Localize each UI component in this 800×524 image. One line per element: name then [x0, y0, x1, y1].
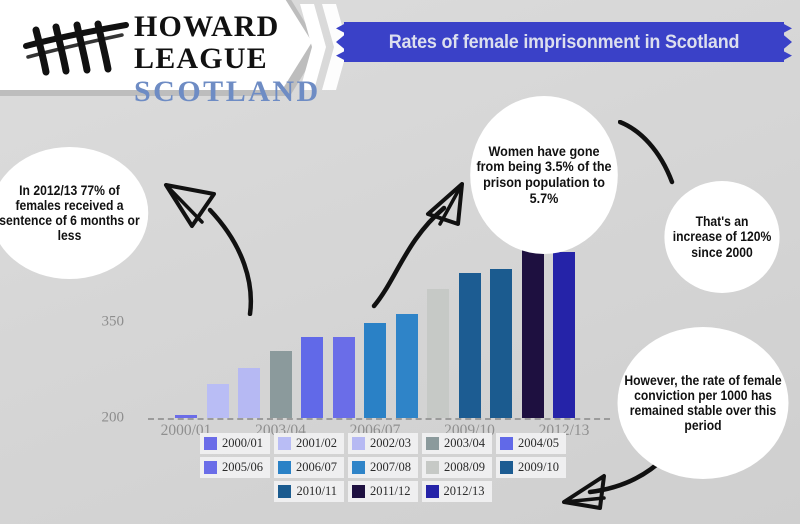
bar-2008-09: [427, 289, 449, 418]
y-axis-tick-200: 200: [102, 410, 125, 427]
legend-item-2005-06[interactable]: 2005/06: [200, 457, 270, 478]
legend-label: 2005/06: [222, 460, 263, 475]
legend-label: 2009/10: [518, 460, 559, 475]
legend-item-2000-01[interactable]: 2000/01: [200, 433, 270, 454]
legend-item-2001-02[interactable]: 2001/02: [274, 433, 344, 454]
callout-sentence-length: In 2012/13 77% of females received a sen…: [0, 147, 148, 279]
callout-percentage-increase: That's an increase of 120% since 2000: [664, 181, 779, 293]
bar-2002-03: [238, 368, 260, 418]
legend-item-2009-10[interactable]: 2009/10: [496, 457, 566, 478]
legend-label: 2006/07: [296, 460, 337, 475]
legend-row: 2005/062006/072007/082008/092009/10: [200, 457, 566, 478]
legend-swatch-icon: [500, 461, 513, 474]
legend-row: 2000/012001/022002/032003/042004/05: [200, 433, 566, 454]
bar-2006-07: [364, 323, 386, 418]
legend-row: 2010/112011/122012/13: [274, 481, 491, 502]
legend-label: 2002/03: [370, 436, 411, 451]
legend-label: 2010/11: [296, 484, 337, 499]
logo-wordmark: HOWARD LEAGUE SCOTLAND: [134, 8, 321, 107]
bar-2007-08: [396, 314, 418, 418]
legend-swatch-icon: [278, 461, 291, 474]
bar-2005-06: [333, 337, 355, 418]
legend-swatch-icon: [426, 485, 439, 498]
legend-label: 2012/13: [444, 484, 485, 499]
bar-2010-11: [490, 269, 512, 418]
callout-sentence-length-text: In 2012/13 77% of females received a sen…: [0, 183, 148, 243]
arrow-to-recent-bars-icon: [618, 120, 698, 195]
legend-item-2002-03[interactable]: 2002/03: [348, 433, 418, 454]
legend-swatch-icon: [352, 485, 365, 498]
logo-line-1: HOWARD: [134, 12, 321, 42]
title-ribbon: Rates of female imprisonment in Scotland: [344, 22, 784, 64]
legend-item-2007-08[interactable]: 2007/08: [348, 457, 418, 478]
bar-2009-10: [459, 273, 481, 418]
legend-label: 2004/05: [518, 436, 559, 451]
legend-label: 2008/09: [444, 460, 485, 475]
legend-label: 2001/02: [296, 436, 337, 451]
legend-item-2008-09[interactable]: 2008/09: [422, 457, 492, 478]
legend-label: 2000/01: [222, 436, 263, 451]
chart-legend: 2000/012001/022002/032003/042004/052005/…: [133, 433, 633, 502]
legend-swatch-icon: [204, 461, 217, 474]
callout-conviction-rate-text: However, the rate of female conviction p…: [618, 373, 789, 433]
legend-swatch-icon: [352, 461, 365, 474]
callout-prison-population-share: Women have gone from being 3.5% of the p…: [470, 96, 618, 254]
bar-2004-05: [301, 337, 323, 418]
legend-swatch-icon: [204, 437, 217, 450]
y-axis-tick-350: 350: [102, 314, 125, 331]
legend-swatch-icon: [500, 437, 513, 450]
legend-swatch-icon: [278, 437, 291, 450]
legend-label: 2011/12: [370, 484, 411, 499]
header-band: HOWARD LEAGUE SCOTLAND Rates of female i…: [0, 0, 800, 90]
bar-2003-04: [270, 351, 292, 418]
legend-swatch-icon: [426, 437, 439, 450]
logo-line-3: SCOTLAND: [134, 77, 321, 107]
logo-line-2: LEAGUE: [134, 44, 321, 74]
legend-item-2004-05[interactable]: 2004/05: [496, 433, 566, 454]
page-title: Rates of female imprisonment in Scotland: [362, 22, 767, 62]
bar-2012-13: [553, 252, 575, 418]
legend-swatch-icon: [278, 485, 291, 498]
callout-prison-population-share-text: Women have gone from being 3.5% of the p…: [470, 144, 618, 207]
legend-item-2003-04[interactable]: 2003/04: [422, 433, 492, 454]
legend-item-2006-07[interactable]: 2006/07: [274, 457, 344, 478]
infographic-canvas: HOWARD LEAGUE SCOTLAND Rates of female i…: [0, 0, 800, 524]
legend-swatch-icon: [426, 461, 439, 474]
legend-item-2012-13[interactable]: 2012/13: [422, 481, 492, 502]
bar-2011-12: [522, 248, 544, 418]
tally-marks-icon: [22, 16, 132, 78]
legend-item-2010-11[interactable]: 2010/11: [274, 481, 344, 502]
legend-label: 2003/04: [444, 436, 485, 451]
callout-percentage-increase-text: That's an increase of 120% since 2000: [664, 214, 779, 259]
legend-swatch-icon: [352, 437, 365, 450]
legend-item-2011-12[interactable]: 2011/12: [348, 481, 418, 502]
bar-2001-02: [207, 384, 229, 418]
legend-label: 2007/08: [370, 460, 411, 475]
bar-2000-01: [175, 415, 197, 418]
callout-conviction-rate: However, the rate of female conviction p…: [618, 327, 789, 479]
